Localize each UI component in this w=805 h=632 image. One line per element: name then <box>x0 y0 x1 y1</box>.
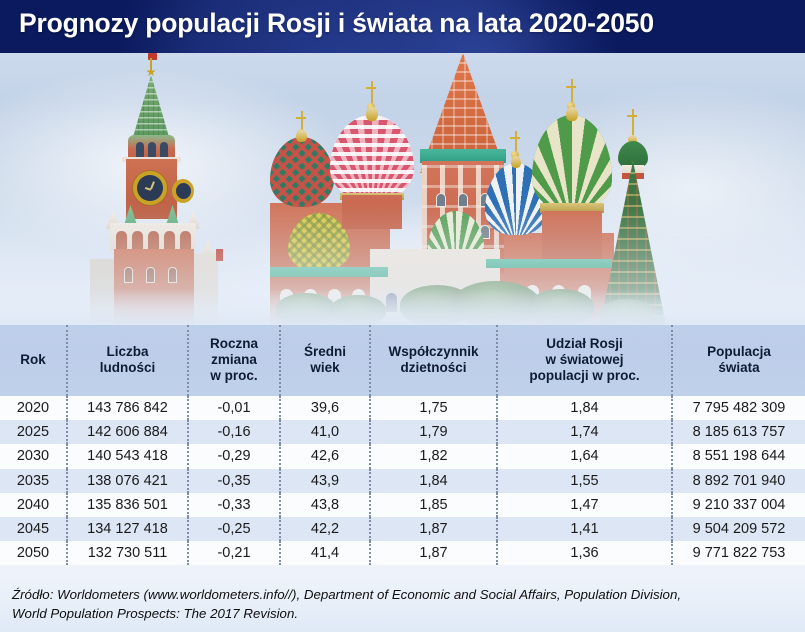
column-header-populacja-swiata: Populacja świata <box>672 325 805 396</box>
cell-udzial-rosji: 1,64 <box>497 444 672 468</box>
cell-rok: 2035 <box>0 469 67 493</box>
header-line: populacji w proc. <box>502 368 667 384</box>
table-row: 2050 132 730 511 -0,21 41,4 1,87 1,36 9 … <box>0 541 805 565</box>
cell-liczba-ludnosci: 140 543 418 <box>67 444 188 468</box>
table-row: 2030 140 543 418 -0,29 42,6 1,82 1,64 8 … <box>0 444 805 468</box>
header-line: w proc. <box>193 368 275 384</box>
table-row: 2040 135 836 501 -0,33 43,8 1,85 1,47 9 … <box>0 493 805 517</box>
column-header-liczba-ludnosci: Liczba ludności <box>67 325 188 396</box>
cell-sredni-wiek: 39,6 <box>280 396 370 420</box>
header-line: Populacja <box>677 344 801 360</box>
header-line: Rok <box>4 352 62 368</box>
cell-rok: 2020 <box>0 396 67 420</box>
cell-rok: 2030 <box>0 444 67 468</box>
cell-sredni-wiek: 43,9 <box>280 469 370 493</box>
cell-liczba-ludnosci: 135 836 501 <box>67 493 188 517</box>
cell-liczba-ludnosci: 142 606 884 <box>67 420 188 444</box>
cell-sredni-wiek: 43,8 <box>280 493 370 517</box>
header-line: Roczna <box>193 336 275 352</box>
cell-dzietnosc: 1,87 <box>370 541 497 565</box>
source-footer: Źródło: Worldometers (www.worldometers.i… <box>0 578 805 632</box>
column-header-roczna-zmiana: Roczna zmiana w proc. <box>188 325 280 396</box>
table-body: 2020 143 786 842 -0,01 39,6 1,75 1,84 7 … <box>0 396 805 565</box>
cell-populacja-swiata: 9 504 209 572 <box>672 517 805 541</box>
table-header-row: Rok Liczba ludności Roczna zmiana w proc… <box>0 325 805 396</box>
cell-liczba-ludnosci: 134 127 418 <box>67 517 188 541</box>
cell-dzietnosc: 1,79 <box>370 420 497 444</box>
source-note: Źródło: Worldometers (www.worldometers.i… <box>12 585 792 624</box>
cell-udzial-rosji: 1,55 <box>497 469 672 493</box>
cell-dzietnosc: 1,75 <box>370 396 497 420</box>
cell-roczna-zmiana: -0,16 <box>188 420 280 444</box>
cell-populacja-swiata: 7 795 482 309 <box>672 396 805 420</box>
cell-rok: 2050 <box>0 541 67 565</box>
header-line: ludności <box>72 360 183 376</box>
cell-populacja-swiata: 9 210 337 004 <box>672 493 805 517</box>
cell-udzial-rosji: 1,47 <box>497 493 672 517</box>
table-row: 2035 138 076 421 -0,35 43,9 1,84 1,55 8 … <box>0 469 805 493</box>
column-header-sredni-wiek: Średni wiek <box>280 325 370 396</box>
cell-populacja-swiata: 9 771 822 753 <box>672 541 805 565</box>
source-line-2: World Population Prospects: The 2017 Rev… <box>12 604 792 623</box>
data-table-container: Rok Liczba ludności Roczna zmiana w proc… <box>0 325 805 578</box>
header-line: zmiana <box>193 352 275 368</box>
cell-liczba-ludnosci: 143 786 842 <box>67 396 188 420</box>
cell-populacja-swiata: 8 551 198 644 <box>672 444 805 468</box>
cell-udzial-rosji: 1,84 <box>497 396 672 420</box>
header-line: Liczba <box>72 344 183 360</box>
cell-dzietnosc: 1,82 <box>370 444 497 468</box>
header-line: w światowej <box>502 352 667 368</box>
cell-roczna-zmiana: -0,33 <box>188 493 280 517</box>
cell-rok: 2045 <box>0 517 67 541</box>
cell-sredni-wiek: 41,0 <box>280 420 370 444</box>
table-row: 2025 142 606 884 -0,16 41,0 1,79 1,74 8 … <box>0 420 805 444</box>
cell-roczna-zmiana: -0,29 <box>188 444 280 468</box>
cell-roczna-zmiana: -0,21 <box>188 541 280 565</box>
header-line: świata <box>677 360 801 376</box>
cell-dzietnosc: 1,85 <box>370 493 497 517</box>
cell-sredni-wiek: 42,2 <box>280 517 370 541</box>
cell-sredni-wiek: 42,6 <box>280 444 370 468</box>
source-line-1: Źródło: Worldometers (www.worldometers.i… <box>12 585 792 604</box>
header-line: Udział Rosji <box>502 336 667 352</box>
cell-udzial-rosji: 1,74 <box>497 420 672 444</box>
cell-dzietnosc: 1,84 <box>370 469 497 493</box>
table-header: Rok Liczba ludności Roczna zmiana w proc… <box>0 325 805 396</box>
cell-liczba-ludnosci: 132 730 511 <box>67 541 188 565</box>
cell-sredni-wiek: 41,4 <box>280 541 370 565</box>
cell-rok: 2025 <box>0 420 67 444</box>
table-row: 2020 143 786 842 -0,01 39,6 1,75 1,84 7 … <box>0 396 805 420</box>
header-line: Średni <box>285 344 365 360</box>
population-forecast-table: Rok Liczba ludności Roczna zmiana w proc… <box>0 325 805 565</box>
cell-dzietnosc: 1,87 <box>370 517 497 541</box>
cell-udzial-rosji: 1,36 <box>497 541 672 565</box>
cell-roczna-zmiana: -0,01 <box>188 396 280 420</box>
infographic-root: Prognozy populacji Rosji i świata na lat… <box>0 0 805 632</box>
column-header-wspolczynnik-dzietnosci: Współczynnik dzietności <box>370 325 497 396</box>
page-title: Prognozy populacji Rosji i świata na lat… <box>19 8 654 39</box>
header-line: Współczynnik <box>375 344 492 360</box>
cell-populacja-swiata: 8 185 613 757 <box>672 420 805 444</box>
header-line: dzietności <box>375 360 492 376</box>
column-header-rok: Rok <box>0 325 67 396</box>
column-header-udzial-rosji: Udział Rosji w światowej populacji w pro… <box>497 325 672 396</box>
hero-photo-moscow-red-square <box>0 53 805 325</box>
photo-bottom-fade <box>0 289 805 325</box>
cell-liczba-ludnosci: 138 076 421 <box>67 469 188 493</box>
cell-udzial-rosji: 1,41 <box>497 517 672 541</box>
cell-rok: 2040 <box>0 493 67 517</box>
cell-populacja-swiata: 8 892 701 940 <box>672 469 805 493</box>
header-line: wiek <box>285 360 365 376</box>
table-row: 2045 134 127 418 -0,25 42,2 1,87 1,41 9 … <box>0 517 805 541</box>
cell-roczna-zmiana: -0,35 <box>188 469 280 493</box>
cell-roczna-zmiana: -0,25 <box>188 517 280 541</box>
